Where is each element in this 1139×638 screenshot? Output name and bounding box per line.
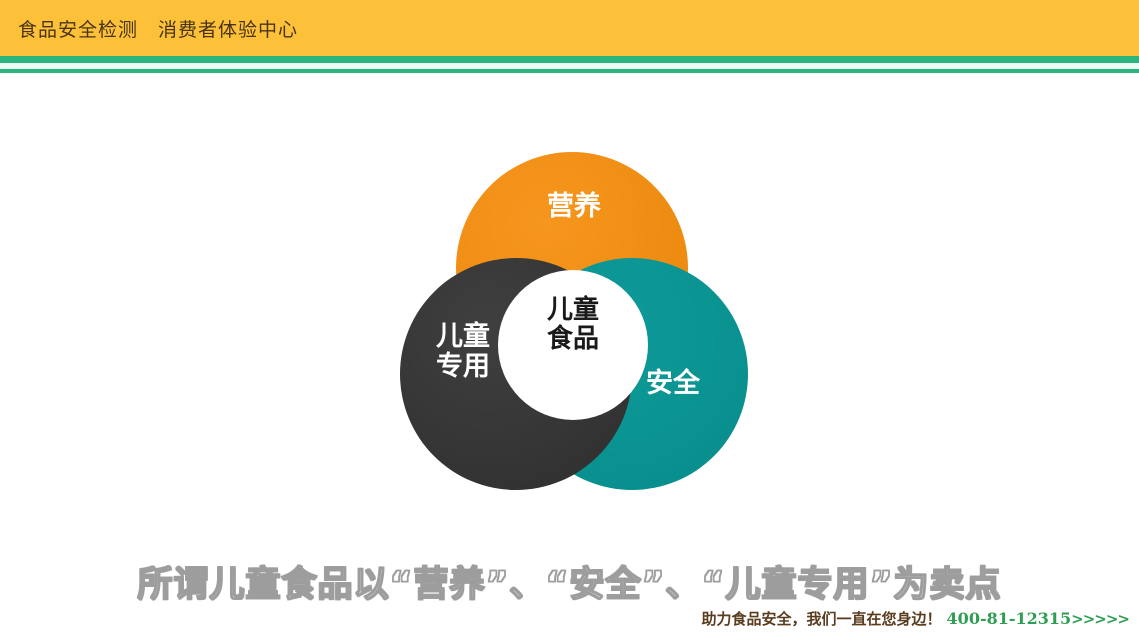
footer-slogan: 助力食品安全，我们一直在您身边！: [702, 608, 942, 629]
venn-label-safety: 安全: [618, 369, 728, 399]
footer: 助力食品安全，我们一直在您身边！ 400-81-12315 >>>>>: [702, 608, 1129, 629]
header-stripe-thin: [0, 69, 1139, 73]
footer-phone[interactable]: 400-81-12315: [947, 609, 1072, 628]
header-stripe-thick: [0, 56, 1139, 63]
header-bar: 食品安全检测 消费者体验中心: [0, 0, 1139, 56]
venn-diagram: 营养 安全 儿童 专用 儿童 食品: [396, 152, 756, 492]
venn-label-center: 儿童 食品: [510, 296, 636, 354]
page-title: 食品安全检测 消费者体验中心: [18, 15, 298, 42]
footer-arrows-icon: >>>>>: [1071, 610, 1129, 628]
slide: 食品安全检测 消费者体验中心 营养 安全 儿童 专用 儿童 食品 所谓儿童食品以…: [0, 0, 1139, 638]
venn-label-exclusive: 儿童 专用: [408, 322, 518, 382]
venn-label-nutrition: 营养: [514, 192, 634, 222]
caption-text: 所谓儿童食品以“营养”、“安全”、“儿童专用”为卖点: [0, 556, 1139, 607]
